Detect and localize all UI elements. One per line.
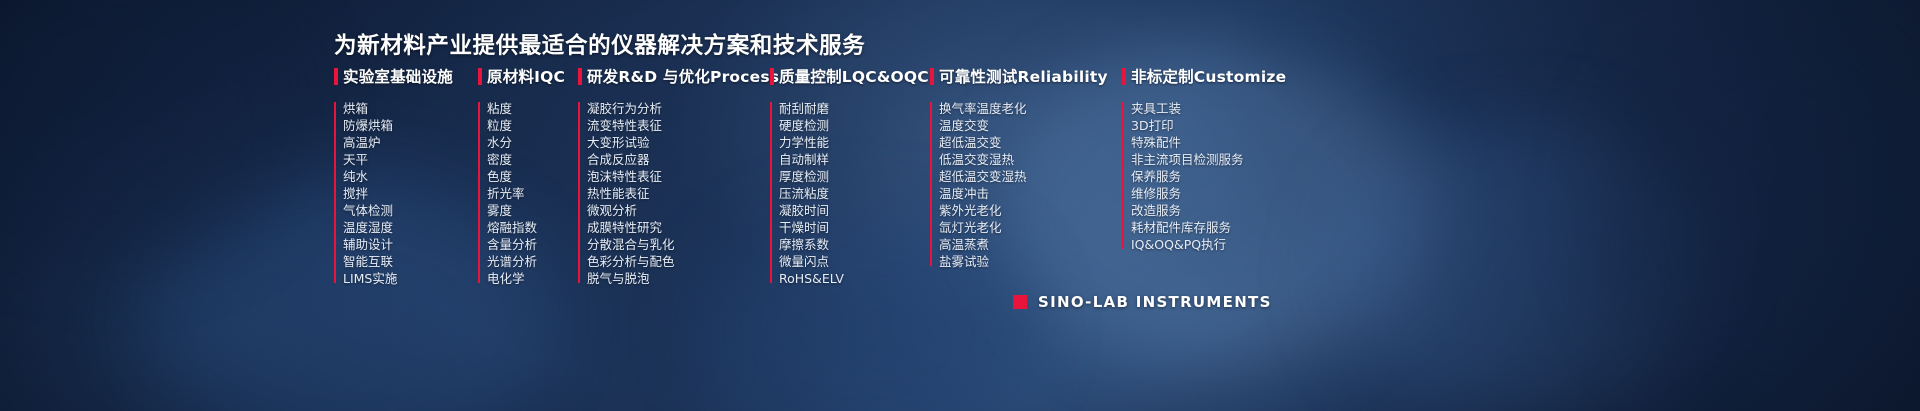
list-item[interactable]: 合成反应器: [587, 151, 770, 168]
list-item[interactable]: 气体检测: [343, 202, 478, 219]
column-item-list: 凝胶行为分析流变特性表征大变形试验合成反应器泡沫特性表征热性能表征微观分析成膜特…: [578, 100, 770, 287]
capability-column-customize: 非标定制Customize夹具工装3D打印特殊配件非主流项目检测服务保养服务维修…: [1122, 66, 1322, 287]
column-header-label: 实验室基础设施: [343, 65, 453, 87]
list-item[interactable]: 大变形试验: [587, 134, 770, 151]
list-item[interactable]: 雾度: [487, 202, 578, 219]
column-header-rd-process[interactable]: 研发R&D 与优化Process: [578, 66, 770, 86]
column-item-list: 换气率温度老化温度交变超低温交变低温交变湿热超低温交变湿热温度冲击紫外光老化氙灯…: [930, 100, 1122, 270]
list-item[interactable]: 超低温交变: [939, 134, 1122, 151]
slide-canvas: 为新材料产业提供最适合的仪器解决方案和技术服务 实验室基础设施烘箱防爆烘箱高温炉…: [0, 0, 1920, 411]
list-item[interactable]: 温度湿度: [343, 219, 478, 236]
capability-columns: 实验室基础设施烘箱防爆烘箱高温炉天平纯水搅拌气体检测温度湿度辅助设计智能互联LI…: [334, 66, 1322, 287]
list-item[interactable]: 特殊配件: [1131, 134, 1322, 151]
list-item[interactable]: 硬度检测: [779, 117, 930, 134]
list-item[interactable]: 搅拌: [343, 185, 478, 202]
brand-name: SINO-LAB INSTRUMENTS: [1038, 293, 1272, 311]
capability-column-quality-control: 质量控制LQC&OQC耐刮耐磨硬度检测力学性能自动制样厚度检测压流粘度凝胶时间干…: [770, 66, 930, 287]
column-header-label: 非标定制Customize: [1131, 65, 1286, 87]
list-item[interactable]: 温度交变: [939, 117, 1122, 134]
list-item[interactable]: 耐刮耐磨: [779, 100, 930, 117]
list-item[interactable]: 微量闪点: [779, 253, 930, 270]
list-item[interactable]: 泡沫特性表征: [587, 168, 770, 185]
content-layer: 为新材料产业提供最适合的仪器解决方案和技术服务 实验室基础设施烘箱防爆烘箱高温炉…: [0, 0, 1920, 411]
list-item[interactable]: 密度: [487, 151, 578, 168]
list-item[interactable]: 光谱分析: [487, 253, 578, 270]
column-header-label: 原材料IQC: [487, 65, 565, 87]
list-item[interactable]: 保养服务: [1131, 168, 1322, 185]
column-header-label: 研发R&D 与优化Process: [587, 65, 779, 87]
column-header-reliability-test[interactable]: 可靠性测试Reliability: [930, 66, 1122, 86]
capability-column-raw-material-iqc: 原材料IQC粘度粒度水分密度色度折光率雾度熔融指数含量分析光谱分析电化学: [478, 66, 578, 287]
list-item[interactable]: 分散混合与乳化: [587, 236, 770, 253]
accent-bar-icon: [930, 68, 934, 85]
list-item[interactable]: 压流粘度: [779, 185, 930, 202]
list-item[interactable]: 智能互联: [343, 253, 478, 270]
list-item[interactable]: 盐雾试验: [939, 253, 1122, 270]
list-item[interactable]: 摩擦系数: [779, 236, 930, 253]
list-item[interactable]: 非主流项目检测服务: [1131, 151, 1322, 168]
list-item[interactable]: 力学性能: [779, 134, 930, 151]
list-item[interactable]: 粒度: [487, 117, 578, 134]
list-item[interactable]: 纯水: [343, 168, 478, 185]
list-item[interactable]: RoHS&ELV: [779, 270, 930, 287]
column-item-list: 夹具工装3D打印特殊配件非主流项目检测服务保养服务维修服务改造服务耗材配件库存服…: [1122, 100, 1322, 253]
accent-bar-icon: [578, 68, 582, 85]
red-square-logo-mark-icon: [1013, 295, 1027, 309]
list-item[interactable]: 电化学: [487, 270, 578, 287]
column-header-label: 可靠性测试Reliability: [939, 65, 1108, 87]
list-item[interactable]: 色度: [487, 168, 578, 185]
list-item[interactable]: 换气率温度老化: [939, 100, 1122, 117]
column-item-list: 耐刮耐磨硬度检测力学性能自动制样厚度检测压流粘度凝胶时间干燥时间摩擦系数微量闪点…: [770, 100, 930, 287]
list-item[interactable]: 成膜特性研究: [587, 219, 770, 236]
list-item[interactable]: 水分: [487, 134, 578, 151]
list-item[interactable]: 耗材配件库存服务: [1131, 219, 1322, 236]
accent-bar-icon: [770, 68, 774, 85]
list-item[interactable]: 色彩分析与配色: [587, 253, 770, 270]
list-item[interactable]: 低温交变湿热: [939, 151, 1122, 168]
brand-logo: SINO-LAB INSTRUMENTS: [1013, 293, 1272, 311]
list-item[interactable]: 超低温交变湿热: [939, 168, 1122, 185]
list-item[interactable]: 凝胶行为分析: [587, 100, 770, 117]
list-item[interactable]: 脱气与脱泡: [587, 270, 770, 287]
capability-column-rd-process: 研发R&D 与优化Process凝胶行为分析流变特性表征大变形试验合成反应器泡沫…: [578, 66, 770, 287]
list-item[interactable]: 紫外光老化: [939, 202, 1122, 219]
list-item[interactable]: 温度冲击: [939, 185, 1122, 202]
list-item[interactable]: 改造服务: [1131, 202, 1322, 219]
list-item[interactable]: 防爆烘箱: [343, 117, 478, 134]
list-item[interactable]: 烘箱: [343, 100, 478, 117]
list-item[interactable]: 干燥时间: [779, 219, 930, 236]
list-item[interactable]: 凝胶时间: [779, 202, 930, 219]
capability-column-reliability-test: 可靠性测试Reliability换气率温度老化温度交变超低温交变低温交变湿热超低…: [930, 66, 1122, 287]
list-item[interactable]: 维修服务: [1131, 185, 1322, 202]
column-header-raw-material-iqc[interactable]: 原材料IQC: [478, 66, 578, 86]
list-item[interactable]: 含量分析: [487, 236, 578, 253]
accent-bar-icon: [478, 68, 482, 85]
column-item-list: 粘度粒度水分密度色度折光率雾度熔融指数含量分析光谱分析电化学: [478, 100, 578, 287]
list-item[interactable]: 熔融指数: [487, 219, 578, 236]
list-item[interactable]: LIMS实施: [343, 270, 478, 287]
list-item[interactable]: 高温炉: [343, 134, 478, 151]
list-item[interactable]: 氙灯光老化: [939, 219, 1122, 236]
list-item[interactable]: 微观分析: [587, 202, 770, 219]
accent-bar-icon: [1122, 68, 1126, 85]
list-item[interactable]: 厚度检测: [779, 168, 930, 185]
list-item[interactable]: 天平: [343, 151, 478, 168]
list-item[interactable]: 夹具工装: [1131, 100, 1322, 117]
capability-column-lab-infrastructure: 实验室基础设施烘箱防爆烘箱高温炉天平纯水搅拌气体检测温度湿度辅助设计智能互联LI…: [334, 66, 478, 287]
accent-bar-icon: [334, 68, 338, 85]
column-header-lab-infrastructure[interactable]: 实验室基础设施: [334, 66, 478, 86]
column-header-quality-control[interactable]: 质量控制LQC&OQC: [770, 66, 930, 86]
list-item[interactable]: 3D打印: [1131, 117, 1322, 134]
list-item[interactable]: 辅助设计: [343, 236, 478, 253]
column-header-customize[interactable]: 非标定制Customize: [1122, 66, 1322, 86]
list-item[interactable]: 高温蒸煮: [939, 236, 1122, 253]
list-item[interactable]: 自动制样: [779, 151, 930, 168]
list-item[interactable]: IQ&OQ&PQ执行: [1131, 236, 1322, 253]
column-item-list: 烘箱防爆烘箱高温炉天平纯水搅拌气体检测温度湿度辅助设计智能互联LIMS实施: [334, 100, 478, 287]
list-item[interactable]: 流变特性表征: [587, 117, 770, 134]
list-item[interactable]: 热性能表征: [587, 185, 770, 202]
page-title: 为新材料产业提供最适合的仪器解决方案和技术服务: [334, 28, 865, 60]
list-item[interactable]: 粘度: [487, 100, 578, 117]
column-header-label: 质量控制LQC&OQC: [779, 65, 929, 87]
list-item[interactable]: 折光率: [487, 185, 578, 202]
